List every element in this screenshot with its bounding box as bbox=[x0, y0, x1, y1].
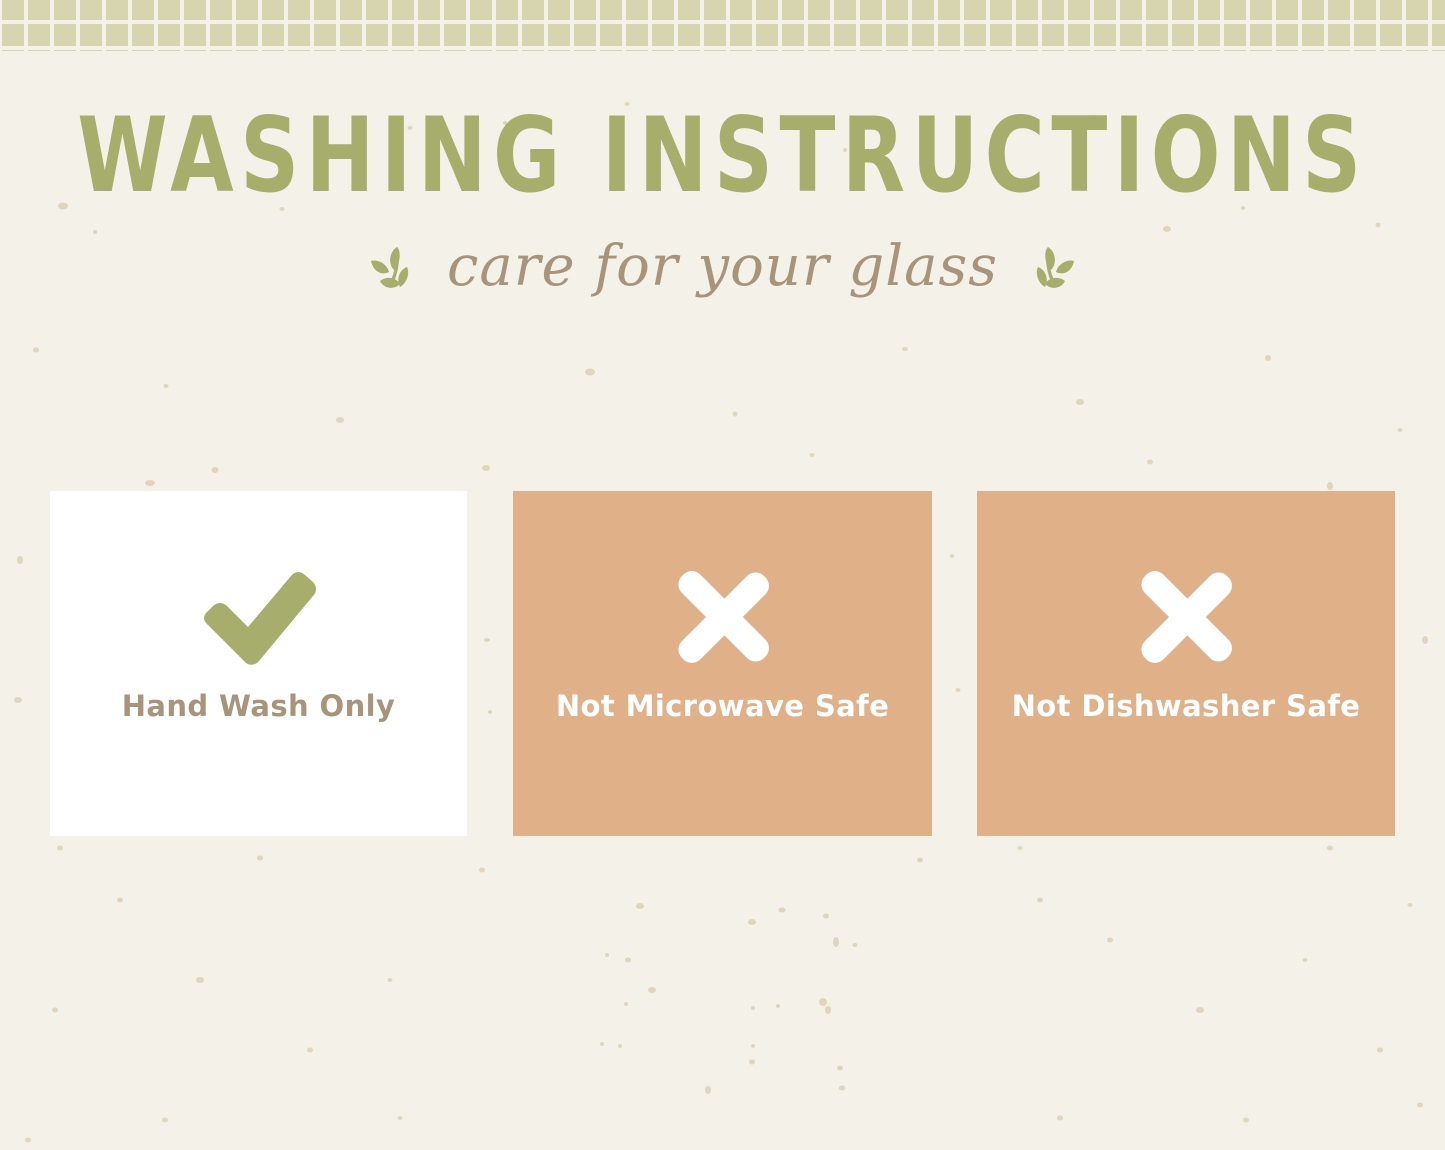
card-label: Not Microwave Safe bbox=[556, 689, 889, 723]
instruction-card-not-dishwasher[interactable]: Not Dishwasher Safe bbox=[977, 491, 1395, 836]
instruction-cards: Hand Wash Only Not Microwave Safe bbox=[50, 491, 1395, 836]
card-label: Hand Wash Only bbox=[122, 689, 396, 723]
checkered-grid-band bbox=[0, 0, 1445, 55]
card-icon-wrap bbox=[1132, 561, 1240, 673]
cross-icon bbox=[669, 565, 777, 669]
cross-icon bbox=[1132, 565, 1240, 669]
subtitle: care for your glass bbox=[447, 239, 998, 295]
check-icon bbox=[193, 565, 325, 669]
card-icon-wrap bbox=[669, 561, 777, 673]
subtitle-row: care for your glass bbox=[0, 232, 1445, 302]
poster-canvas: WASHING INSTRUCTIONS care for your glass bbox=[0, 0, 1445, 1150]
card-label: Not Dishwasher Safe bbox=[1012, 689, 1361, 723]
page-title: WASHING INSTRUCTIONS bbox=[51, 104, 1395, 208]
card-icon-wrap bbox=[193, 561, 325, 673]
instruction-card-hand-wash[interactable]: Hand Wash Only bbox=[50, 491, 467, 836]
instruction-card-not-microwave[interactable]: Not Microwave Safe bbox=[513, 491, 932, 836]
leaf-sprig-right-icon bbox=[1032, 241, 1078, 293]
leaf-sprig-left-icon bbox=[367, 241, 413, 293]
